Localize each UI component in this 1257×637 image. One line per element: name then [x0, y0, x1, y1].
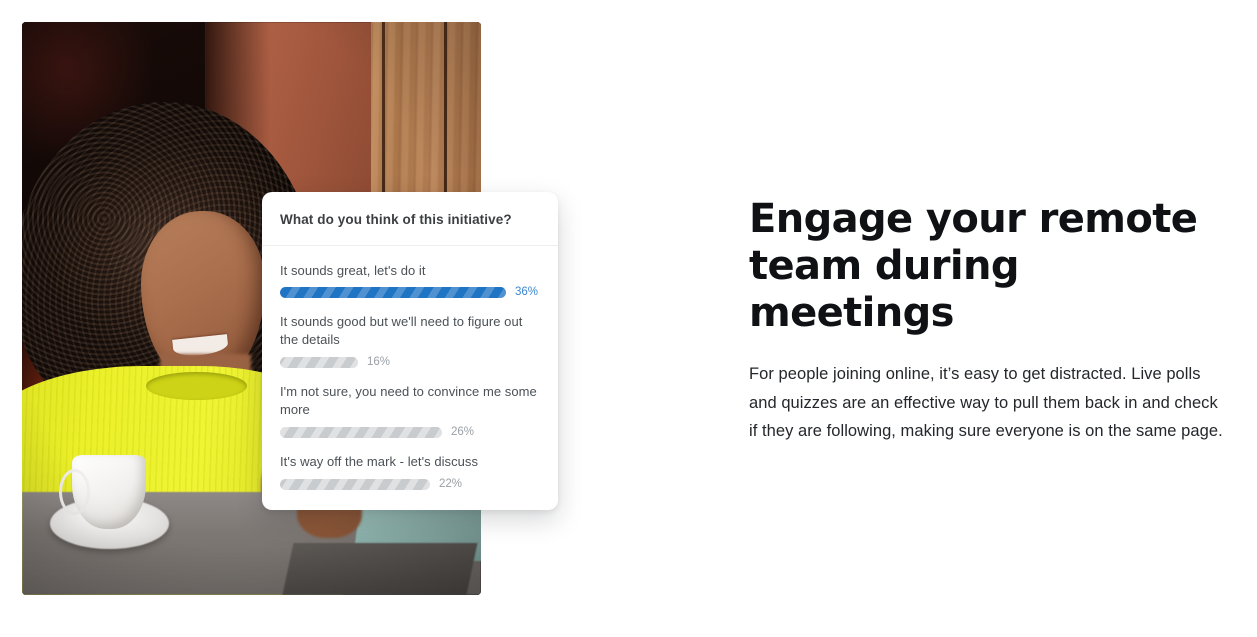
poll-option-percent: 36% — [515, 286, 538, 298]
poll-option[interactable]: It's way off the mark - let's discuss 22… — [280, 453, 540, 490]
poll-option-label: It's way off the mark - let's discuss — [280, 453, 540, 471]
poll-option-bar — [280, 287, 506, 298]
poll-card: What do you think of this initiative? It… — [262, 192, 558, 510]
poll-option[interactable]: It sounds good but we'll need to figure … — [280, 313, 540, 368]
poll-option-label: It sounds good but we'll need to figure … — [280, 313, 540, 349]
feature-section: What do you think of this initiative? It… — [0, 0, 1257, 637]
poll-option-meter: 36% — [280, 286, 540, 298]
poll-option-label: I'm not sure, you need to convince me so… — [280, 383, 540, 419]
poll-option-bar — [280, 357, 358, 368]
feature-body-text: For people joining online, it’s easy to … — [749, 360, 1227, 445]
feature-headline: Engage your remote team during meetings — [749, 196, 1227, 336]
poll-option-percent: 16% — [367, 356, 390, 368]
poll-header: What do you think of this initiative? — [262, 192, 558, 246]
poll-option-bar — [280, 427, 442, 438]
poll-question: What do you think of this initiative? — [280, 211, 540, 229]
poll-option-meter: 16% — [280, 356, 540, 368]
poll-option[interactable]: It sounds great, let's do it 36% — [280, 262, 540, 299]
poll-option-meter: 26% — [280, 426, 540, 438]
feature-text-column: Engage your remote team during meetings … — [749, 196, 1227, 446]
poll-option[interactable]: I'm not sure, you need to convince me so… — [280, 383, 540, 438]
poll-option-percent: 26% — [451, 426, 474, 438]
poll-option-meter: 22% — [280, 478, 540, 490]
poll-results-list: It sounds great, let's do it 36% It soun… — [262, 246, 558, 511]
poll-option-percent: 22% — [439, 478, 462, 490]
poll-option-label: It sounds great, let's do it — [280, 262, 540, 280]
poll-option-bar — [280, 479, 430, 490]
